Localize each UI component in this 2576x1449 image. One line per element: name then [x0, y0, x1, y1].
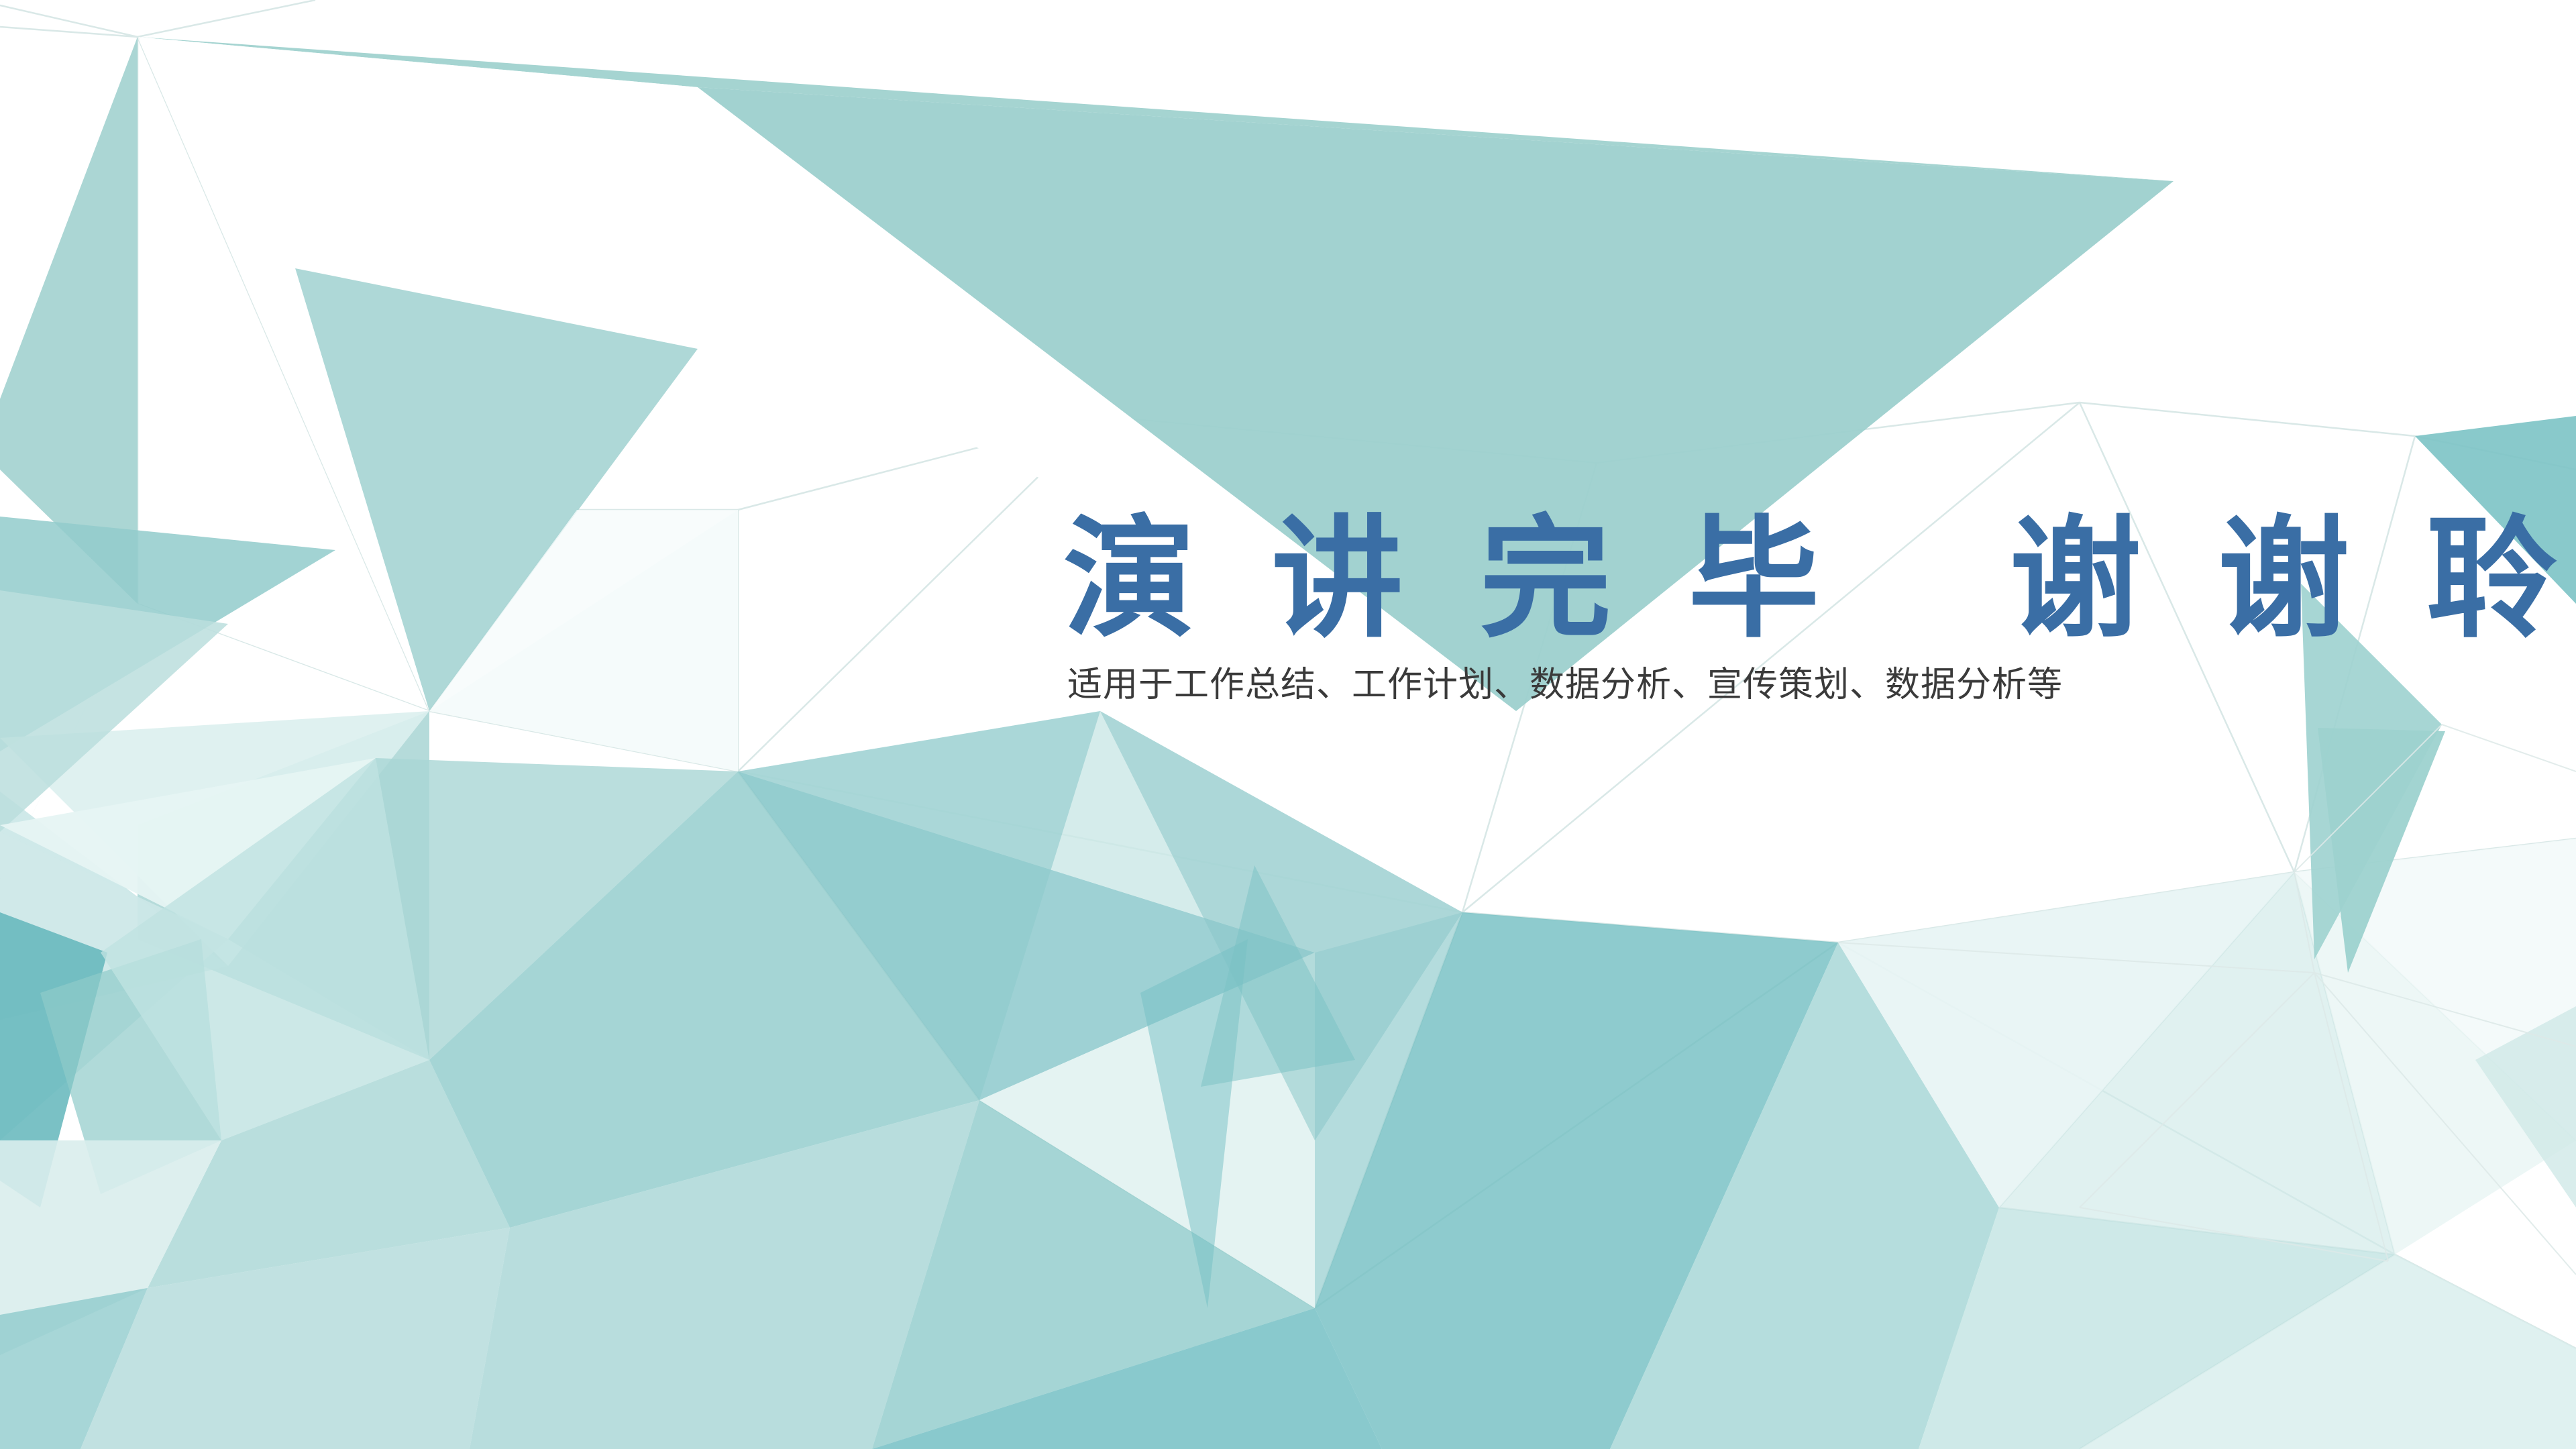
page-title: 演 讲 完 毕 谢 谢 聆 听 [1063, 510, 2445, 649]
subtitle: 适用于工作总结、工作计划、数据分析、宣传策划、数据分析等 [1063, 664, 2445, 706]
slide-canvas: 演 讲 完 毕 谢 谢 聆 听 适用于工作总结、工作计划、数据分析、宣传策划、数… [0, 0, 2576, 1449]
low-poly-background-artwork [0, 0, 2576, 1449]
title-text-block: 演 讲 完 毕 谢 谢 聆 听 适用于工作总结、工作计划、数据分析、宣传策划、数… [1063, 510, 2445, 706]
